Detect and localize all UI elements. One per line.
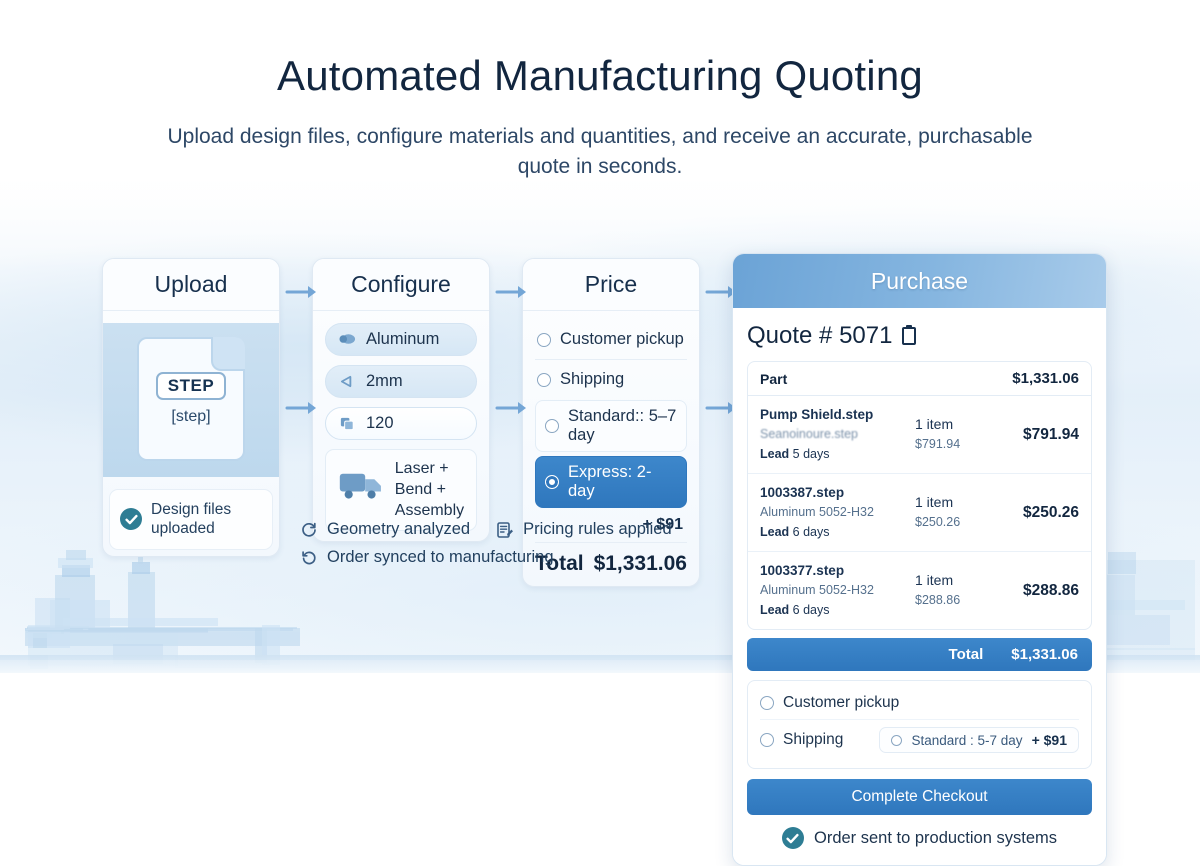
config-option-thickness[interactable]: 2mm (325, 365, 477, 398)
column-header-part: Part (760, 371, 787, 387)
line-item-unit-price: $250.26 (915, 513, 1001, 532)
line-item-qty: 1 item (915, 414, 1001, 435)
line-item-unit-price: $791.94 (915, 435, 1001, 454)
status-geometry-analyzed: Geometry analyzed (300, 520, 470, 539)
shipping-shipping-label: Shipping (783, 731, 843, 749)
purchase-panel-title: Purchase (733, 254, 1106, 308)
table-header-amount: $1,331.06 (1012, 370, 1079, 387)
hero-section: Automated Manufacturing Quoting Upload d… (0, 0, 1200, 183)
lead-label: Lead (760, 603, 789, 617)
line-item-name: 1003387.step (760, 483, 915, 503)
config-material-label: Aluminum (366, 330, 439, 349)
price-card-title: Price (523, 259, 699, 311)
price-option-customer-pickup[interactable]: Customer pickup (535, 323, 687, 356)
lead-label: Lead (760, 447, 789, 461)
shipping-option-pickup[interactable]: Customer pickup (760, 687, 1079, 719)
upload-dropzone[interactable]: STEP [step] (103, 323, 279, 477)
arrow-right-icon (285, 284, 319, 300)
shipping-option-shipping[interactable]: Shipping Standard : 5-7 day + $91 (760, 719, 1079, 760)
page-title: Automated Manufacturing Quoting (0, 52, 1200, 100)
price-option-label: Shipping (560, 370, 624, 389)
shipping-options: Customer pickup Shipping Standard : 5-7 … (747, 680, 1092, 769)
lead-label: Lead (760, 525, 789, 539)
config-option-material[interactable]: Aluminum (325, 323, 477, 356)
order-total-label: Total (949, 646, 984, 663)
table-row[interactable]: 1003377.step Aluminum 5052-H32 Lead 6 da… (748, 552, 1091, 629)
line-item-lead: Lead 5 days (760, 445, 915, 464)
price-option-label: Customer pickup (560, 330, 684, 349)
truck-icon (336, 461, 387, 507)
check-circle-icon (120, 508, 142, 530)
status-label: Order synced to manufacturing (327, 548, 554, 567)
price-option-express[interactable]: Express: 2-day (535, 456, 687, 508)
radio-icon[interactable] (537, 333, 551, 347)
material-icon (338, 331, 357, 348)
complete-checkout-button[interactable]: Complete Checkout (747, 779, 1092, 815)
config-thickness-label: 2mm (366, 372, 403, 391)
rules-icon (496, 521, 514, 539)
line-item-name: 1003377.step (760, 561, 915, 581)
configure-card-title: Configure (313, 259, 489, 311)
page-root: Automated Manufacturing Quoting Upload d… (0, 0, 1200, 800)
line-item-amount: $288.86 (1001, 582, 1079, 600)
refresh-icon (300, 521, 318, 539)
line-item-name: Pump Shield.step (760, 405, 915, 425)
price-option-standard[interactable]: Standard:: 5–7 day (535, 400, 687, 452)
quote-header: Quote # 5071 (747, 322, 1092, 350)
lead-value: 6 days (793, 525, 830, 539)
price-option-label: Express: 2-day (568, 463, 677, 501)
pipeline-status-list: Geometry analyzed Pricing rules applied … (300, 520, 740, 576)
shipping-pickup-label: Customer pickup (783, 694, 899, 712)
sync-icon (300, 549, 318, 567)
table-header-row: Part $1,331.06 (748, 362, 1091, 396)
purchase-panel: Purchase Quote # 5071 Part $1,331.06 (732, 253, 1107, 866)
radio-icon[interactable] (760, 733, 774, 747)
step-file-icon: STEP [step] (137, 337, 245, 461)
arrow-right-icon (285, 400, 319, 416)
status-pricing-rules-applied: Pricing rules applied (496, 520, 672, 539)
arrow-right-icon (495, 400, 529, 416)
price-option-label: Standard:: 5–7 day (568, 407, 677, 445)
divider (535, 359, 687, 360)
clipboard-icon[interactable] (902, 327, 916, 345)
upload-card-title: Upload (103, 259, 279, 311)
file-format-badge: STEP (156, 372, 226, 400)
flow-stage: Upload STEP [step] Design files uplo (102, 232, 1102, 778)
config-quantity-label: 120 (366, 414, 394, 433)
config-process-label: Laser + Bend + Assembly (395, 459, 466, 521)
line-item-amount: $791.94 (1001, 426, 1079, 444)
radio-icon[interactable] (537, 373, 551, 387)
line-item-material: Aluminum 5052-H32 (760, 503, 915, 522)
line-item-lead: Lead 6 days (760, 523, 915, 542)
table-row[interactable]: Pump Shield.step Seanoinoure.step Lead 5… (748, 396, 1091, 474)
upload-status: Design files uploaded (109, 489, 273, 550)
thickness-icon (338, 373, 357, 390)
line-item-material: Aluminum 5052-H32 (760, 581, 915, 600)
line-item-qty: 1 item (915, 570, 1001, 591)
arrow-right-icon (495, 284, 529, 300)
lead-value: 6 days (793, 603, 830, 617)
lead-value: 5 days (793, 447, 830, 461)
line-item-material: Seanoinoure.step (760, 425, 915, 444)
table-row[interactable]: 1003387.step Aluminum 5052-H32 Lead 6 da… (748, 474, 1091, 552)
order-total-value: $1,331.06 (1011, 646, 1078, 663)
line-item-unit-price: $288.86 (915, 591, 1001, 610)
upload-status-label: Design files uploaded (151, 500, 262, 539)
line-item-lead: Lead 6 days (760, 601, 915, 620)
order-confirmation-label: Order sent to production systems (814, 829, 1057, 848)
price-option-shipping[interactable]: Shipping (535, 363, 687, 396)
check-circle-icon (782, 827, 804, 849)
file-extension-label: [step] (171, 408, 210, 426)
shipping-sub-option-standard[interactable]: Standard : 5-7 day + $91 (879, 727, 1079, 753)
order-total-bar: Total $1,331.06 (747, 638, 1092, 671)
order-confirmation: Order sent to production systems (747, 827, 1092, 849)
radio-icon[interactable] (545, 419, 559, 433)
quote-line-items-table: Part $1,331.06 Pump Shield.step Seanoino… (747, 361, 1092, 630)
shipping-sub-option-label: Standard : 5-7 day (911, 733, 1022, 748)
line-item-amount: $250.26 (1001, 504, 1079, 522)
radio-icon[interactable] (760, 696, 774, 710)
page-subtitle: Upload design files, configure materials… (150, 122, 1050, 183)
line-item-qty: 1 item (915, 492, 1001, 513)
config-option-quantity[interactable]: 120 (325, 407, 477, 440)
step-card-upload[interactable]: Upload STEP [step] Design files uplo (102, 258, 280, 557)
radio-icon-selected[interactable] (545, 475, 559, 489)
quote-number-label: Quote # 5071 (747, 322, 892, 350)
shipping-sub-option-price: + $91 (1032, 732, 1067, 748)
step-card-configure[interactable]: Configure Aluminum 2mm (312, 258, 490, 542)
status-order-synced: Order synced to manufacturing (300, 548, 554, 567)
status-label: Geometry analyzed (327, 520, 470, 539)
radio-icon[interactable] (891, 735, 902, 746)
status-label: Pricing rules applied (523, 520, 672, 539)
quantity-icon (338, 415, 357, 432)
